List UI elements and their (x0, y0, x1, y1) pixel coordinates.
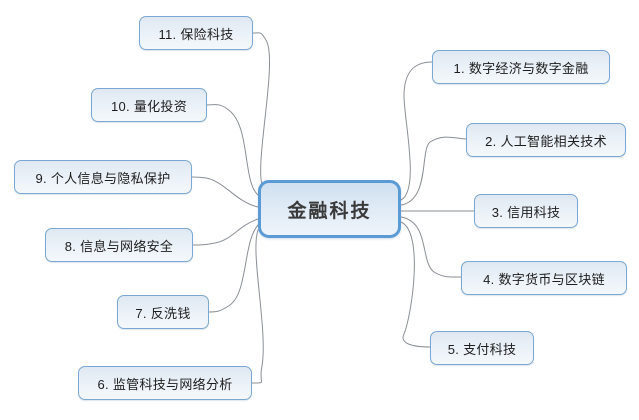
connector-line-4 (401, 217, 461, 277)
mindmap-canvas: 1. 数字经济与数字金融2. 人工智能相关技术3. 信用科技4. 数字货币与区块… (0, 0, 639, 420)
branch-node-4[interactable]: 4. 数字货币与区块链 (461, 261, 627, 295)
connector-line-11 (253, 33, 270, 185)
connector-line-10 (207, 105, 258, 195)
connector-line-2 (401, 137, 466, 205)
branch-node-1[interactable]: 1. 数字经济与数字金融 (432, 50, 610, 84)
branch-node-10[interactable]: 10. 量化投资 (91, 88, 207, 122)
branch-node-2[interactable]: 2. 人工智能相关技术 (466, 123, 626, 157)
branch-node-5[interactable]: 5. 支付科技 (430, 331, 534, 365)
branch-node-7[interactable]: 7. 反洗钱 (117, 295, 209, 329)
connector-line-6 (252, 230, 263, 383)
center-node[interactable]: 金融科技 (258, 180, 401, 238)
branch-node-11[interactable]: 11. 保险科技 (139, 16, 253, 50)
connector-line-8 (193, 219, 258, 245)
branch-node-8[interactable]: 8. 信息与网络安全 (45, 228, 193, 262)
connector-line-9 (192, 177, 258, 207)
connector-line-7 (209, 225, 258, 312)
branch-node-6[interactable]: 6. 监管科技与网络分析 (78, 366, 252, 400)
connector-line-1 (401, 62, 432, 200)
connector-line-5 (401, 222, 430, 347)
branch-node-3[interactable]: 3. 信用科技 (474, 194, 578, 228)
branch-node-9[interactable]: 9. 个人信息与隐私保护 (14, 160, 192, 194)
